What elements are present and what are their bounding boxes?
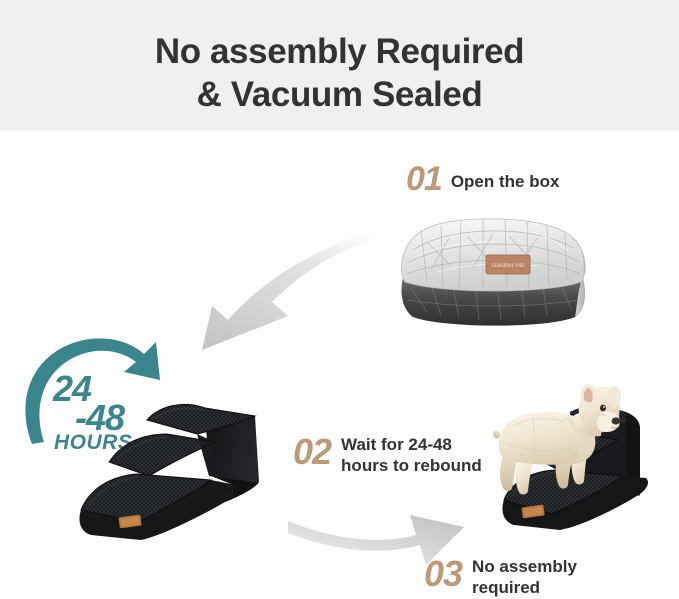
vacuum-sealed-package: Gardner Pet	[397, 216, 589, 338]
step-02-number: 02	[293, 434, 331, 470]
arrow-down-left-icon	[168, 228, 373, 360]
step-02: 02 Wait for 24-48 hours to rebound	[293, 432, 482, 476]
step-03-number: 03	[424, 556, 462, 592]
step-01-number: 01	[406, 162, 442, 196]
foam-pet-stairs-left	[75, 390, 295, 550]
package-brand-label: Gardner Pet	[486, 255, 530, 274]
infographic-page: No assembly Required & Vacuum Sealed 01 …	[0, 0, 679, 599]
svg-text:Gardner Pet: Gardner Pet	[492, 263, 525, 269]
french-bulldog	[487, 382, 622, 517]
step-03-label: No assembly required	[472, 556, 577, 598]
step-03: 03 No assembly required	[424, 554, 577, 598]
page-title: No assembly Required & Vacuum Sealed	[0, 30, 679, 116]
step-02-label: Wait for 24-48 hours to rebound	[341, 434, 482, 476]
step-01: 01 Open the box	[406, 162, 559, 196]
step-01-label: Open the box	[451, 172, 560, 192]
